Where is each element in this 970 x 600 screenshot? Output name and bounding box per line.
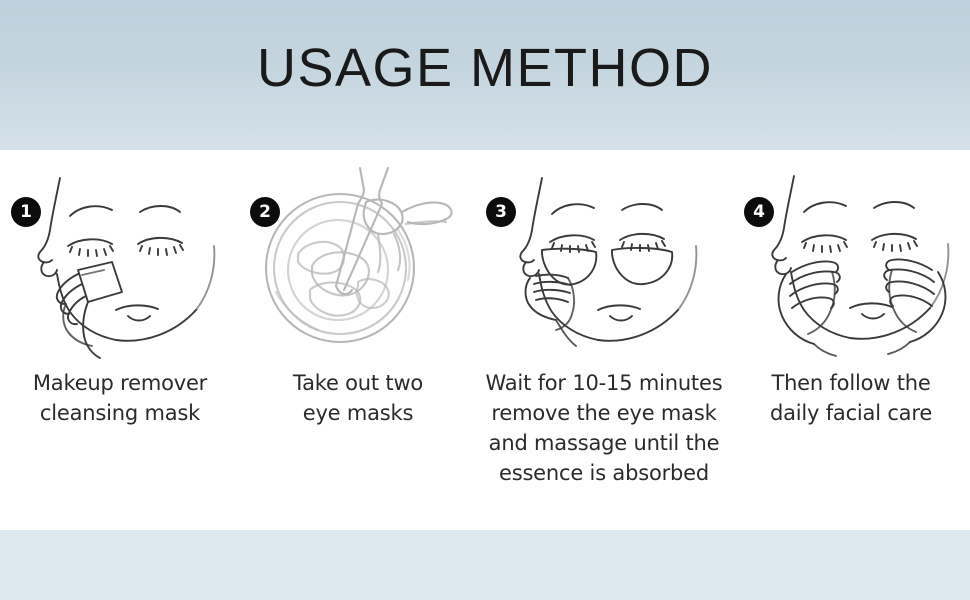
usage-method-infographic: USAGE METHOD 1: [0, 0, 970, 600]
header-band: USAGE METHOD: [0, 0, 970, 150]
step-3-caption-line-2: remove the eye mask: [476, 398, 732, 428]
step-3-caption: Wait for 10-15 minutes remove the eye ma…: [476, 368, 732, 488]
step-1-caption-line-1: Makeup remover: [0, 368, 240, 398]
step-1: 1: [0, 150, 240, 530]
step-1-caption: Makeup remover cleansing mask: [0, 368, 240, 428]
step-3-caption-line-1: Wait for 10-15 minutes: [476, 368, 732, 398]
step-1-caption-line-2: cleansing mask: [0, 398, 240, 428]
face-with-eye-masks-icon: [476, 150, 732, 362]
jar-with-tweezers-icon: [240, 150, 476, 362]
step-2-caption-line-2: eye masks: [240, 398, 476, 428]
step-3-caption-line-4: essence is absorbed: [476, 458, 732, 488]
footer-band: [0, 530, 970, 600]
step-3-caption-line-3: and massage until the: [476, 428, 732, 458]
step-3-number-badge: 3: [486, 197, 516, 227]
steps-container: 1: [0, 150, 970, 530]
step-2-caption: Take out two eye masks: [240, 368, 476, 428]
step-3: 3: [476, 150, 732, 530]
step-1-illustration-wrap: 1: [0, 150, 240, 362]
step-2-illustration-wrap: 2: [240, 150, 476, 362]
step-3-illustration-wrap: 3: [476, 150, 732, 362]
step-4: 4: [732, 150, 970, 530]
step-2-caption-line-1: Take out two: [240, 368, 476, 398]
step-4-caption-line-2: daily facial care: [732, 398, 970, 428]
face-massage-two-hands-icon: [732, 150, 970, 362]
step-4-illustration-wrap: 4: [732, 150, 970, 362]
face-wiping-with-pad-icon: [0, 150, 240, 362]
step-4-number-badge: 4: [744, 197, 774, 227]
step-2: 2: [240, 150, 476, 530]
page-title: USAGE METHOD: [0, 36, 970, 100]
step-4-caption-line-1: Then follow the: [732, 368, 970, 398]
step-1-number-badge: 1: [11, 197, 41, 227]
step-2-number-badge: 2: [250, 197, 280, 227]
step-4-caption: Then follow the daily facial care: [732, 368, 970, 428]
